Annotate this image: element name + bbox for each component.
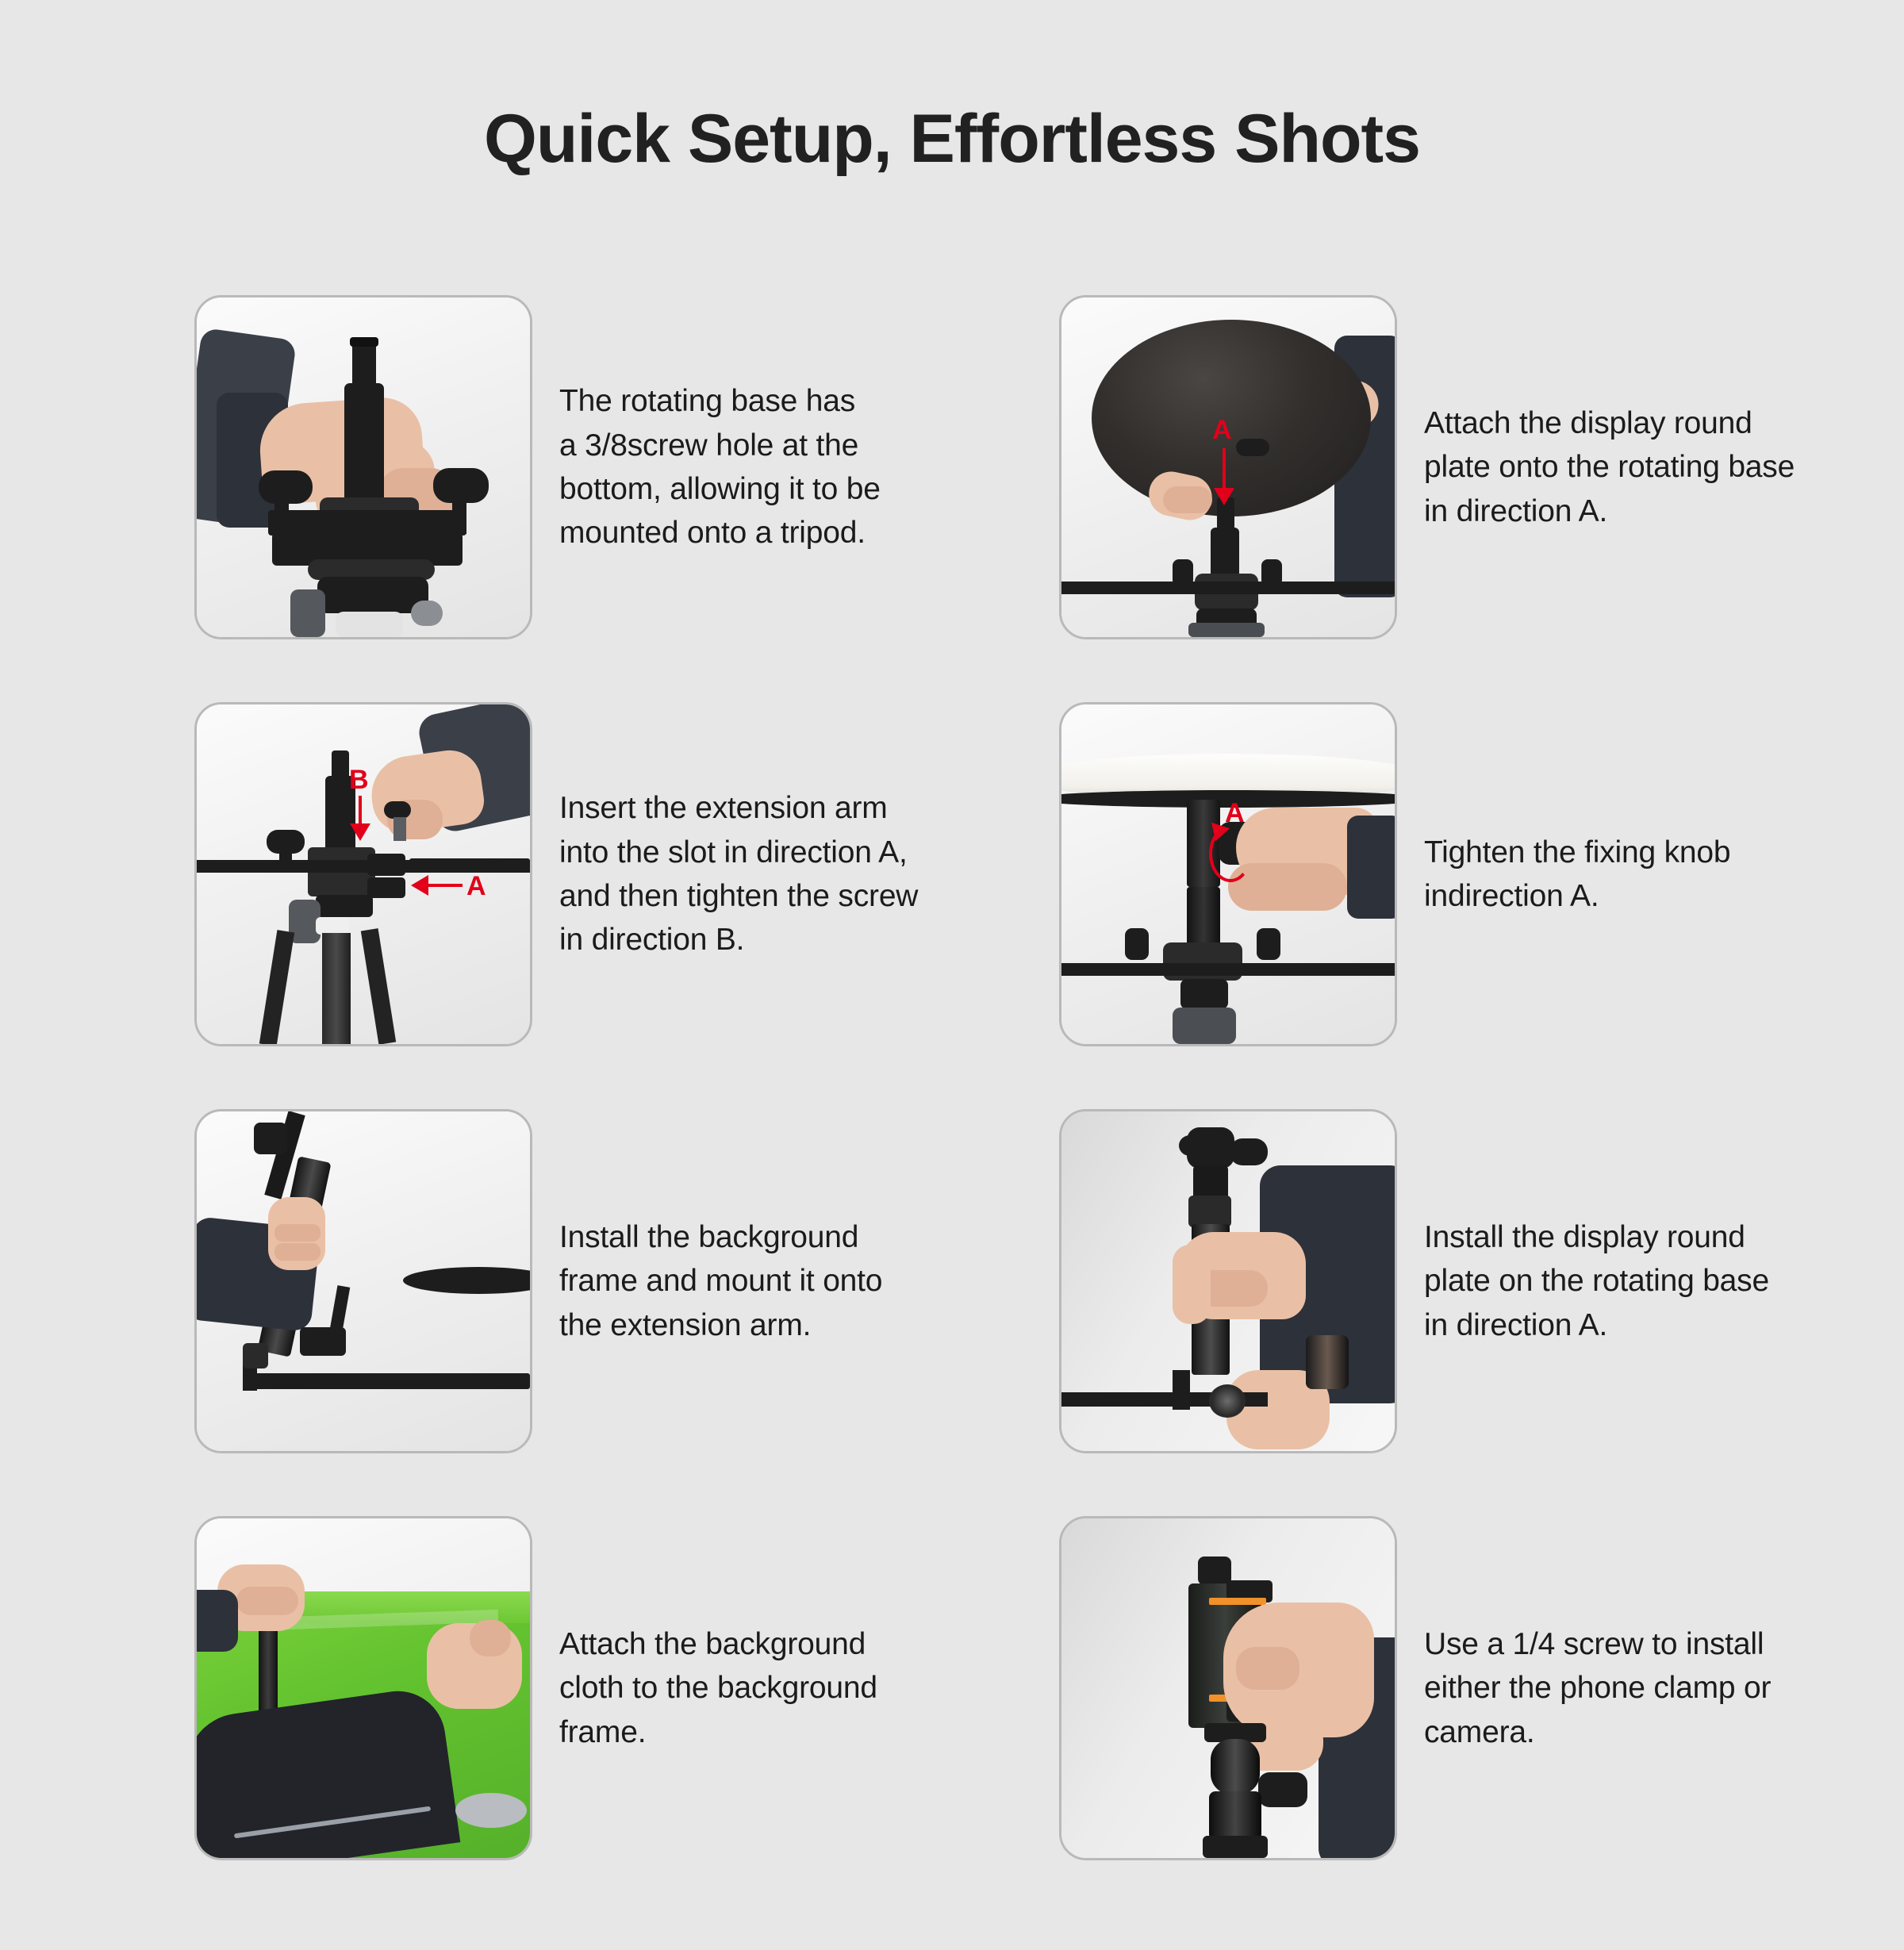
annotation-arrow-down [1223, 448, 1226, 491]
step-caption-1: The rotating base has a 3/8screw hole at… [559, 379, 881, 555]
instruction-sheet: Quick Setup, Effortless Shots [0, 46, 1904, 1950]
step-item-7: Attach the background cloth to the backg… [194, 1485, 1059, 1892]
photo-scene-round-plate: A [1061, 297, 1395, 637]
step-item-2: A Attach the display round plate onto th… [1059, 264, 1904, 671]
photo-scene-fixing-knob: A [1061, 704, 1395, 1044]
annotation-label-a: A [1225, 800, 1245, 827]
step-item-4: A Tighten the fixing knob indirection A. [1059, 671, 1904, 1078]
step-item-8: Use a 1/4 screw to install either the ph… [1059, 1485, 1904, 1892]
annotation-arrowhead-left [411, 875, 428, 896]
photo-scene-phone-clamp [1061, 1518, 1395, 1858]
step-caption-3: Insert the extension arm into the slot i… [559, 786, 918, 962]
step-item-5: Install the background frame and mount i… [194, 1078, 1059, 1485]
step-image-5 [194, 1109, 532, 1453]
step-image-8 [1059, 1516, 1397, 1860]
step-caption-5: Install the background frame and mount i… [559, 1215, 882, 1347]
step-image-7 [194, 1516, 532, 1860]
step-item-3: B A Insert the extension arm into the sl… [194, 671, 1059, 1078]
step-caption-4: Tighten the fixing knob indirection A. [1424, 831, 1730, 919]
steps-grid: The rotating base has a 3/8screw hole at… [0, 264, 1904, 1892]
photo-scene-green-cloth [197, 1518, 530, 1858]
clamp-orange-accent [1209, 1598, 1266, 1605]
page-title: Quick Setup, Effortless Shots [0, 46, 1904, 177]
step-image-4: A [1059, 702, 1397, 1046]
step-caption-8: Use a 1/4 screw to install either the ph… [1424, 1622, 1771, 1754]
step-image-2: A [1059, 295, 1397, 639]
step-caption-7: Attach the background cloth to the backg… [559, 1622, 877, 1754]
step-item-6: Install the display round plate on the r… [1059, 1078, 1904, 1485]
step-image-6 [1059, 1109, 1397, 1453]
photo-scene-extension-arm: B A [197, 704, 530, 1044]
photo-scene-background-frame [197, 1111, 530, 1451]
photo-scene-vertical-post [1061, 1111, 1395, 1451]
annotation-arrow-down-b [359, 796, 362, 827]
photo-scene-rotating-base [197, 297, 530, 637]
annotation-label-a: A [1212, 416, 1232, 443]
step-image-3: B A [194, 702, 532, 1046]
annotation-label-b: B [349, 766, 369, 793]
step-caption-6: Install the display round plate on the r… [1424, 1215, 1769, 1347]
annotation-arrowhead-down-b [350, 823, 370, 841]
annotation-arrow-left [427, 884, 463, 887]
step-caption-2: Attach the display round plate onto the … [1424, 401, 1795, 533]
step-image-1 [194, 295, 532, 639]
step-item-1: The rotating base has a 3/8screw hole at… [194, 264, 1059, 671]
annotation-label-a: A [466, 873, 486, 900]
annotation-arrowhead-down [1214, 488, 1234, 505]
